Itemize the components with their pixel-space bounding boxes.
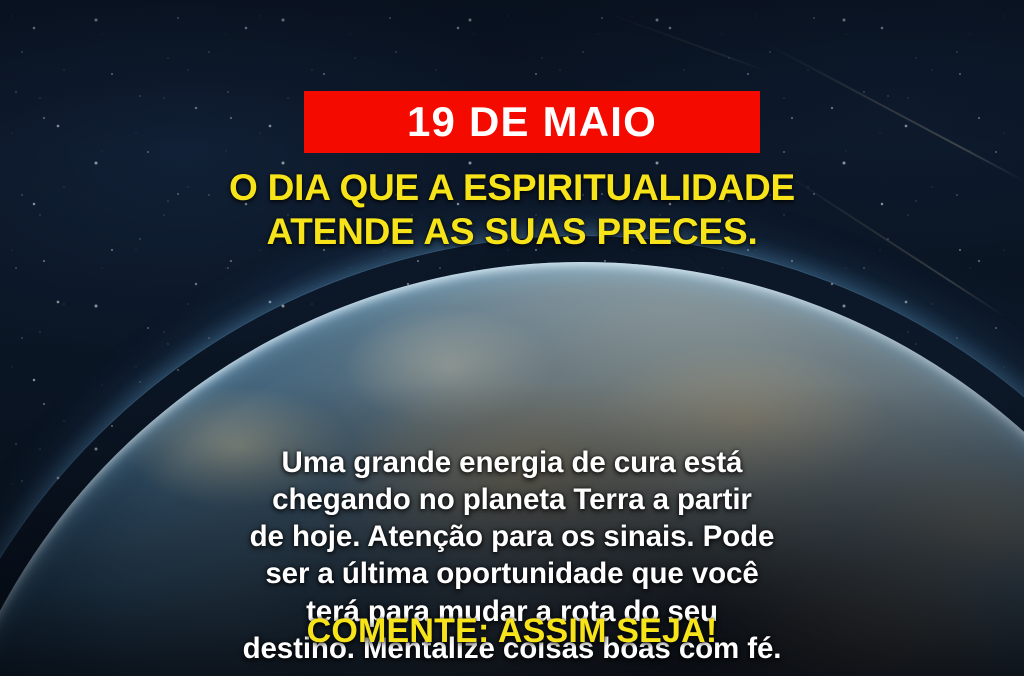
body-line-1: Uma grande energia de cura está — [52, 444, 972, 481]
headline-line-1: O DIA QUE A ESPIRITUALIDADE — [229, 167, 795, 208]
date-banner: 19 DE MAIO — [304, 91, 760, 153]
body-line-2: chegando no planeta Terra a partir — [52, 481, 972, 518]
headline-line-2: ATENDE AS SUAS PRECES. — [40, 210, 984, 254]
date-banner-label: 19 DE MAIO — [407, 101, 657, 143]
call-to-action: COMENTE: ASSIM SEJA! — [0, 613, 1024, 650]
headline: O DIA QUE A ESPIRITUALIDADE ATENDE AS SU… — [0, 166, 1024, 253]
poster-canvas: 19 DE MAIO O DIA QUE A ESPIRITUALIDADE A… — [0, 0, 1024, 685]
poster-content: 19 DE MAIO O DIA QUE A ESPIRITUALIDADE A… — [0, 0, 1024, 685]
body-line-3: de hoje. Atenção para os sinais. Pode — [52, 518, 972, 555]
bottom-border-strip — [0, 676, 1024, 685]
call-to-action-label: COMENTE: ASSIM SEJA! — [307, 612, 718, 650]
body-line-4: ser a última oportunidade que você — [52, 555, 972, 592]
